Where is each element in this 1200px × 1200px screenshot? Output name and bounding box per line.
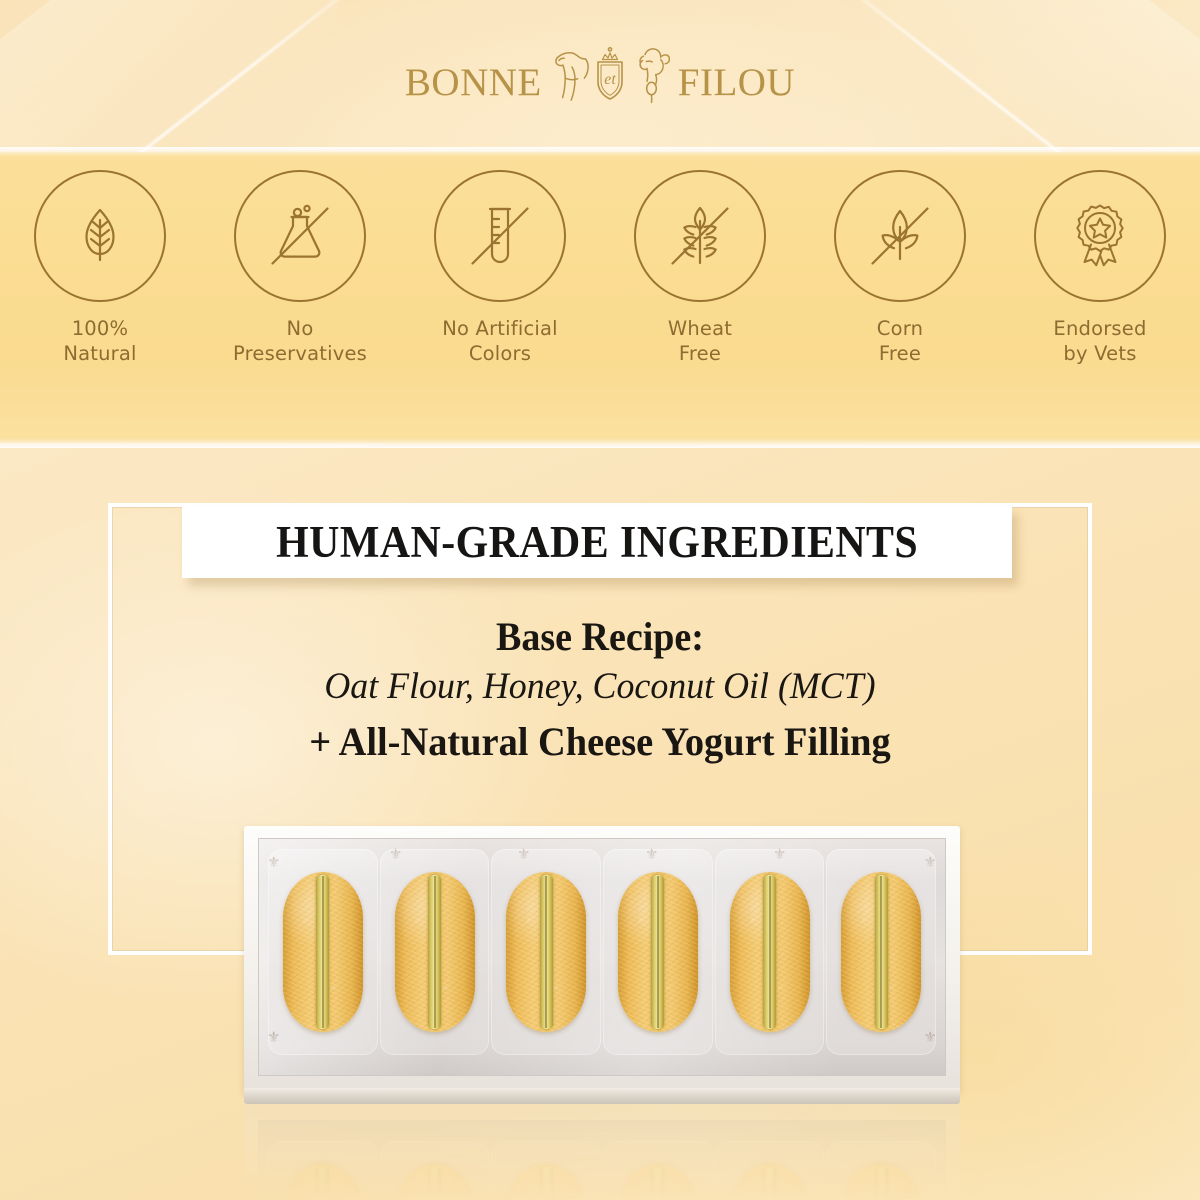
flask-icon [234, 170, 366, 302]
infographic-page: Bonne et [0, 0, 1200, 1200]
macaron-cell [268, 849, 378, 1055]
test-tube-icon [434, 170, 566, 302]
leaf-icon [34, 170, 166, 302]
svg-text:et: et [604, 71, 616, 88]
macaron [283, 872, 363, 1032]
recipe-block: Base Recipe: Oat Flour, Honey, Coconut O… [0, 614, 1200, 770]
benefit-item-corn-free: Corn Free [800, 170, 1000, 367]
product-photo: ⚜ ⚜ ⚜ ⚜ ⚜ ⚜ ⚜ ⚜ [244, 826, 960, 1092]
benefit-item-no-artificial-colors: No Artificial Colors [400, 170, 600, 367]
product-reflection [244, 1104, 960, 1200]
macaron-cell [715, 849, 825, 1055]
benefit-label: Wheat Free [668, 316, 732, 367]
benefit-item-natural: 100% Natural [0, 170, 200, 367]
benefit-item-endorsed-by-vets: Endorsed by Vets [1000, 170, 1200, 367]
benefit-item-wheat-free: Wheat Free [600, 170, 800, 367]
benefit-label: No Artificial Colors [442, 316, 558, 367]
dog-crest-emblem-icon: et [550, 40, 670, 114]
wheat-icon [634, 170, 766, 302]
macaron-cell [826, 849, 936, 1055]
macaron [395, 872, 475, 1032]
macaron-cells [267, 849, 937, 1055]
benefit-label: No Preservatives [233, 316, 367, 367]
macaron-cell [491, 849, 601, 1055]
recipe-heading: Base Recipe: [30, 614, 1170, 660]
brand-logo: Bonne et [0, 42, 1200, 112]
macaron-cell [380, 849, 490, 1055]
brand-name-right: Filou [678, 49, 795, 105]
page-title: HUMAN-GRADE INGREDIENTS [276, 516, 918, 568]
recipe-filling: + All-Natural Cheese Yogurt Filling [24, 714, 1176, 770]
benefit-label: Corn Free [877, 316, 923, 367]
macaron-cell [603, 849, 713, 1055]
benefit-label: 100% Natural [63, 316, 136, 367]
headline-banner: HUMAN-GRADE INGREDIENTS [182, 506, 1012, 578]
brand-name-left: Bonne [405, 49, 542, 105]
macaron [506, 872, 586, 1032]
recipe-base-ingredients: Oat Flour, Honey, Coconut Oil (MCT) [18, 660, 1182, 714]
benefit-item-no-preservatives: No Preservatives [200, 170, 400, 367]
product-box-lip [244, 1088, 960, 1104]
award-rosette-icon [1034, 170, 1166, 302]
corn-icon [834, 170, 966, 302]
macaron [730, 872, 810, 1032]
benefits-band: 100% Natural No Preservatives [0, 152, 1200, 443]
product-tray: ⚜ ⚜ ⚜ ⚜ ⚜ ⚜ ⚜ ⚜ [258, 838, 946, 1076]
macaron [618, 872, 698, 1032]
macaron [841, 872, 921, 1032]
benefit-label: Endorsed by Vets [1053, 316, 1146, 367]
